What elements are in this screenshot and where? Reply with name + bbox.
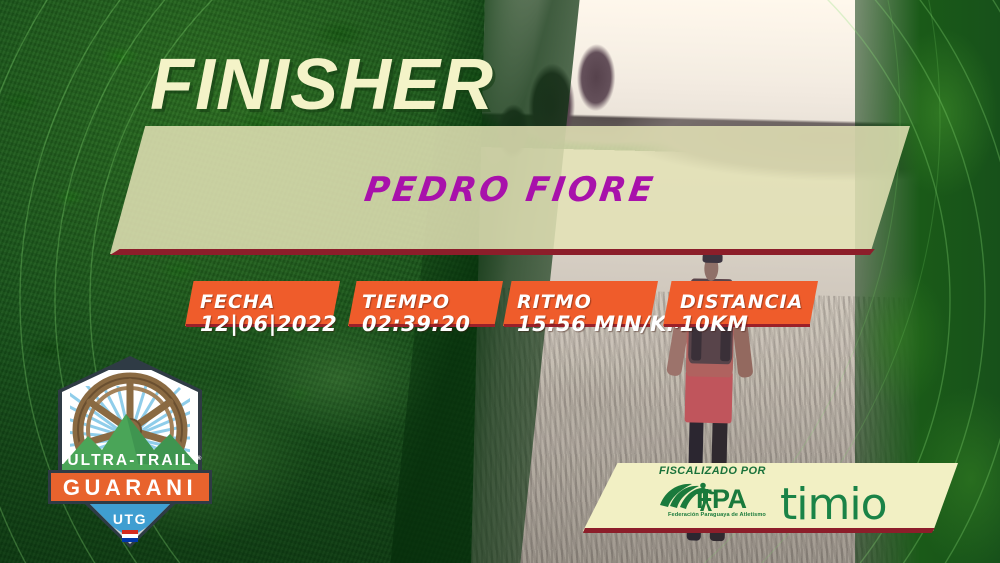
logo-abbreviation: UTG: [113, 511, 147, 527]
stat-ritmo-label: RITMO: [517, 292, 688, 313]
stat-tiempo-value: 02:39:20: [362, 313, 470, 337]
finisher-poster: FINISHER PEDRO FIORE FECHA 12|06|2022 TI…: [0, 0, 1000, 563]
logo-registered-mark: ®: [197, 454, 202, 462]
stat-tiempo-label: TIEMPO: [362, 292, 470, 313]
stat-tiempo: TIEMPO 02:39:20: [362, 292, 470, 337]
fpa-full-name: Federación Paraguaya de Atletismo: [658, 512, 776, 518]
logo-brand-top: ULTRA-TRAIL: [67, 452, 192, 469]
sponsor-banner-edge: [583, 528, 958, 533]
sanctioned-by-label: FISCALIZADO POR: [659, 465, 766, 477]
stat-distancia-value: 10KM: [680, 313, 803, 337]
stat-fecha-value: 12|06|2022: [200, 313, 337, 337]
paraguay-flag-icon: [122, 530, 138, 542]
fpa-acronym: FPA: [696, 484, 747, 514]
athlete-name: PEDRO FIORE: [101, 126, 919, 254]
timio-logo: timio: [780, 479, 886, 530]
stat-fecha: FECHA 12|06|2022: [200, 292, 337, 337]
stat-ritmo: RITMO 15:56 MIN/KM: [517, 292, 688, 337]
stat-distancia: DISTANCIA 10KM: [680, 292, 803, 337]
stat-fecha-label: FECHA: [200, 292, 337, 313]
logo-brand-main: GUARANI: [63, 475, 197, 500]
stat-distancia-label: DISTANCIA: [680, 292, 803, 313]
stat-ritmo-value: 15:56 MIN/KM: [517, 313, 688, 337]
page-title: FINISHER: [150, 44, 494, 126]
ultra-trail-guarani-logo: ULTRA-TRAIL ® GUARANI UTG: [30, 352, 230, 552]
fpa-logo: FPA Federación Paraguaya de Atletismo: [658, 481, 773, 521]
